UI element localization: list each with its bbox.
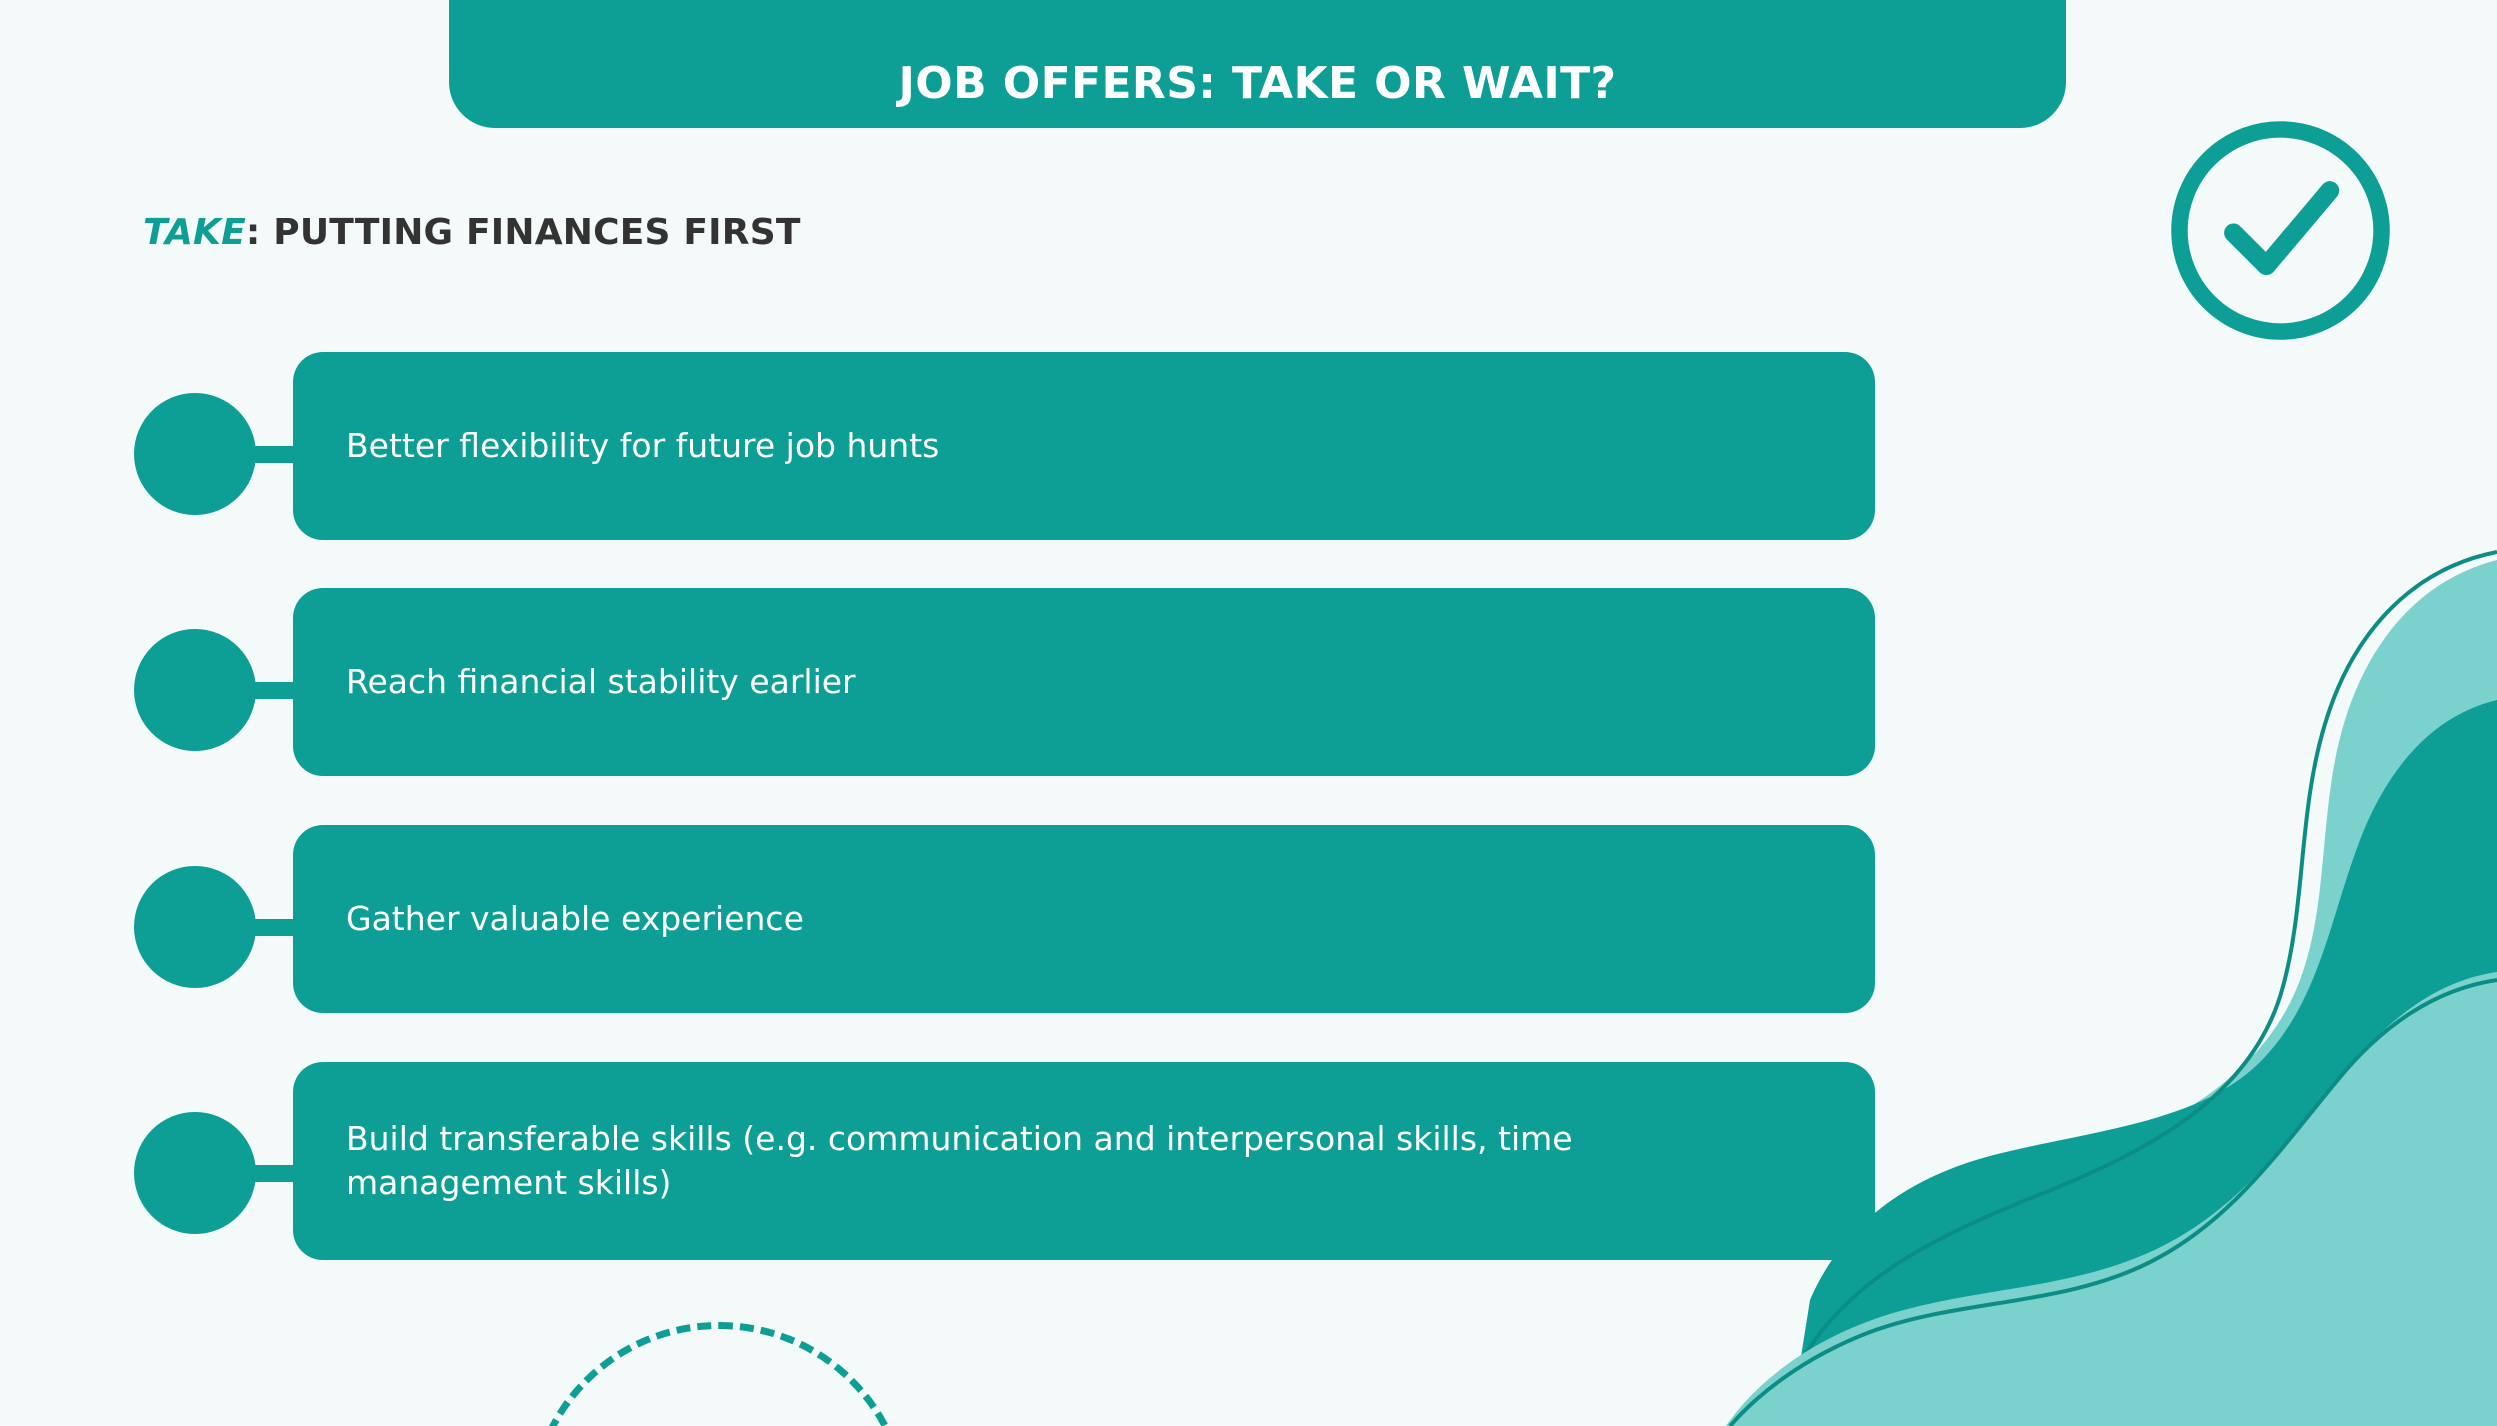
bullet-card[interactable]: Better flexibility for future job hunts — [293, 352, 1875, 540]
bullet-dot — [134, 866, 256, 988]
bullet-list: Better flexibility for future job hunts … — [0, 0, 2497, 1426]
bullet-card[interactable]: Reach financial stability earlier — [293, 588, 1875, 776]
bullet-dot — [134, 629, 256, 751]
bullet-card[interactable]: Build transferable skills (e.g. communic… — [293, 1062, 1875, 1260]
list-item-label: Build transferable skills (e.g. communic… — [346, 1117, 1766, 1204]
list-item-label: Reach financial stability earlier — [346, 660, 856, 704]
bullet-dot — [134, 1112, 256, 1234]
slide-canvas: JOB OFFERS: TAKE OR WAIT? TAKE: PUTTING … — [0, 0, 2497, 1426]
list-item-label: Better flexibility for future job hunts — [346, 424, 939, 468]
bullet-card[interactable]: Gather valuable experience — [293, 825, 1875, 1013]
list-item-label: Gather valuable experience — [346, 897, 804, 941]
bullet-dot — [134, 393, 256, 515]
